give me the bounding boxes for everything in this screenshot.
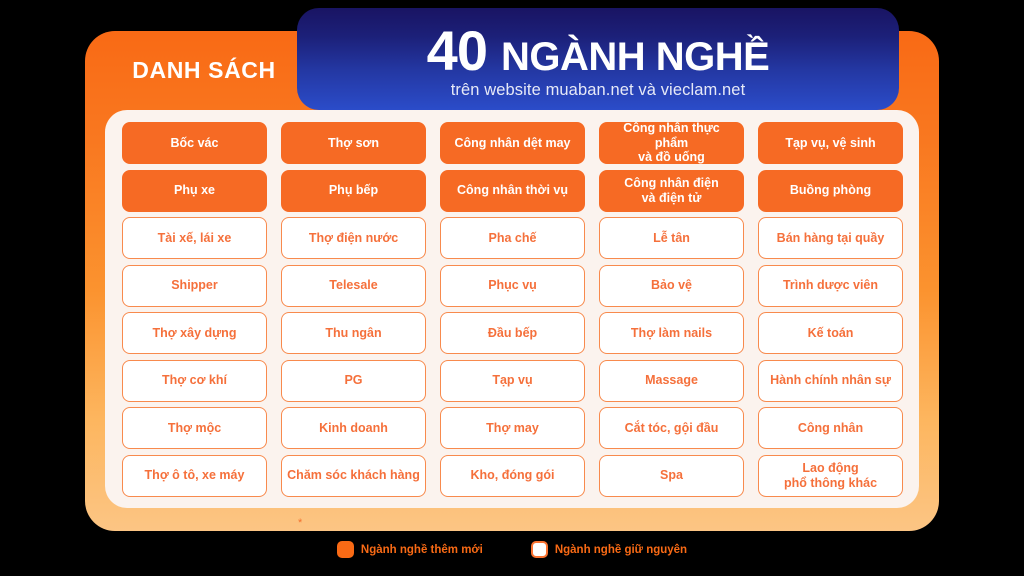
job-card-label: Bán hàng tại quầy: [777, 231, 885, 245]
job-card-line: Pha chế: [489, 231, 537, 245]
job-card-label: Công nhân: [798, 421, 863, 435]
job-card-line: Thợ may: [486, 421, 539, 435]
job-card-label: Thợ điện nước: [309, 231, 398, 245]
page-title: DANH SÁCH: [104, 57, 304, 84]
job-card[interactable]: Công nhân: [758, 407, 903, 449]
legend-swatch-icon: [531, 541, 548, 558]
job-card-line: Chăm sóc khách hàng: [287, 468, 420, 482]
job-card-label: Công nhân thời vụ: [457, 183, 568, 197]
job-card[interactable]: Công nhân điệnvà điện tử: [599, 170, 744, 212]
job-card[interactable]: Phục vụ: [440, 265, 585, 307]
job-card-label: Phụ bếp: [329, 183, 378, 197]
job-card-label: Shipper: [171, 278, 218, 292]
job-card-line: Tạp vụ: [492, 373, 532, 387]
job-card[interactable]: Thợ sơn: [281, 122, 426, 164]
job-card-line: Bốc vác: [171, 136, 219, 150]
job-card[interactable]: Kho, đóng gói: [440, 455, 585, 497]
job-card[interactable]: Công nhân thực phẩmvà đồ uống: [599, 122, 744, 164]
job-card-line: Thợ cơ khí: [162, 373, 227, 387]
job-card-label: Cắt tóc, gội đầu: [625, 421, 719, 435]
job-card-line: Kinh doanh: [319, 421, 388, 435]
job-card[interactable]: Spa: [599, 455, 744, 497]
job-card[interactable]: Thợ cơ khí: [122, 360, 267, 402]
job-card-line: Phục vụ: [488, 278, 537, 292]
header-banner: 40 NGÀNH NGHỀ trên website muaban.net và…: [297, 8, 899, 110]
job-card-line: PG: [344, 373, 362, 387]
job-card[interactable]: Pha chế: [440, 217, 585, 259]
job-card-label: Lễ tân: [653, 231, 690, 245]
job-card-line: Cắt tóc, gội đầu: [625, 421, 719, 435]
job-card-line: Phụ bếp: [329, 183, 378, 197]
job-card[interactable]: Kế toán: [758, 312, 903, 354]
job-card-line: Thợ mộc: [168, 421, 221, 435]
job-card-line: Công nhân dệt may: [455, 136, 571, 150]
job-card-line: Bảo vệ: [651, 278, 692, 292]
job-card[interactable]: Buồng phòng: [758, 170, 903, 212]
job-card-label: Công nhân điệnvà điện tử: [624, 176, 718, 205]
job-card-label: Buồng phòng: [790, 183, 871, 197]
legend-label: Ngành nghề giữ nguyên: [555, 544, 687, 556]
job-card-label: Thợ sơn: [328, 136, 379, 150]
job-card-label: Tạp vụ, vệ sinh: [785, 136, 875, 150]
job-card[interactable]: Trình dược viên: [758, 265, 903, 307]
job-card-label: Thu ngân: [325, 326, 381, 340]
job-card-label: Tạp vụ: [492, 373, 532, 387]
job-card[interactable]: Thợ may: [440, 407, 585, 449]
job-card[interactable]: Telesale: [281, 265, 426, 307]
job-card-line: Tài xế, lái xe: [158, 231, 232, 245]
job-card-line: phổ thông khác: [784, 476, 877, 490]
header-banner-headline: 40 NGÀNH NGHỀ: [427, 24, 770, 77]
job-card-line: Spa: [660, 468, 683, 482]
job-card-line: Công nhân thực phẩm: [605, 121, 738, 150]
job-card-label: PG: [344, 373, 362, 387]
job-card[interactable]: Thợ làm nails: [599, 312, 744, 354]
job-card-label: Thợ mộc: [168, 421, 221, 435]
job-card-label: Kho, đóng gói: [470, 468, 554, 482]
job-card[interactable]: Phụ xe: [122, 170, 267, 212]
job-card-line: Kho, đóng gói: [470, 468, 554, 482]
job-card[interactable]: Thợ mộc: [122, 407, 267, 449]
job-card-label: Bốc vác: [171, 136, 219, 150]
job-card[interactable]: Bán hàng tại quầy: [758, 217, 903, 259]
job-card-line: và điện tử: [624, 191, 718, 205]
legend-item-new: Ngành nghề thêm mới: [337, 541, 483, 558]
job-card-line: Lao động: [784, 461, 877, 475]
header-banner-content: 40 NGÀNH NGHỀ trên website muaban.net và…: [297, 8, 899, 110]
job-card-line: Thợ xây dựng: [153, 326, 237, 340]
footnote-asterisk: *: [298, 518, 302, 529]
job-card-line: Trình dược viên: [783, 278, 878, 292]
job-card-label: Đầu bếp: [488, 326, 537, 340]
job-card[interactable]: Massage: [599, 360, 744, 402]
job-card[interactable]: Chăm sóc khách hàng: [281, 455, 426, 497]
job-card[interactable]: Cắt tóc, gội đầu: [599, 407, 744, 449]
job-card-label: Công nhân thực phẩmvà đồ uống: [605, 121, 738, 164]
job-card[interactable]: Công nhân dệt may: [440, 122, 585, 164]
job-card[interactable]: Thợ xây dựng: [122, 312, 267, 354]
job-card-label: Thợ làm nails: [631, 326, 712, 340]
job-card-line: Đầu bếp: [488, 326, 537, 340]
job-card-label: Kế toán: [808, 326, 854, 340]
job-card-label: Phục vụ: [488, 278, 537, 292]
job-card-line: Công nhân: [798, 421, 863, 435]
job-card-label: Lao độngphổ thông khác: [784, 461, 877, 490]
header-banner-subtitle: trên website muaban.net và vieclam.net: [451, 81, 746, 100]
job-card-line: Thợ làm nails: [631, 326, 712, 340]
job-card-label: Thợ may: [486, 421, 539, 435]
header-banner-title: NGÀNH NGHỀ: [501, 37, 769, 77]
job-card-label: Massage: [645, 373, 698, 387]
job-card-label: Hành chính nhân sự: [770, 373, 891, 387]
job-card-label: Tài xế, lái xe: [158, 231, 232, 245]
job-card-line: Kế toán: [808, 326, 854, 340]
job-card-line: Telesale: [329, 278, 377, 292]
job-card-label: Pha chế: [489, 231, 537, 245]
job-card-line: Thợ ô tô, xe máy: [145, 468, 245, 482]
infographic-root: DANH SÁCH 40 NGÀNH NGHỀ trên website mua…: [0, 0, 1024, 576]
job-card-line: Thu ngân: [325, 326, 381, 340]
job-card-label: Công nhân dệt may: [455, 136, 571, 150]
job-card-label: Kinh doanh: [319, 421, 388, 435]
job-card-label: Thợ ô tô, xe máy: [145, 468, 245, 482]
job-card[interactable]: Công nhân thời vụ: [440, 170, 585, 212]
job-card-line: Hành chính nhân sự: [770, 373, 891, 387]
job-card[interactable]: Tạp vụ, vệ sinh: [758, 122, 903, 164]
job-card[interactable]: Tạp vụ: [440, 360, 585, 402]
job-card-line: Phụ xe: [174, 183, 215, 197]
job-card-line: Lễ tân: [653, 231, 690, 245]
job-card-label: Phụ xe: [174, 183, 215, 197]
job-count: 40: [427, 24, 487, 77]
job-card[interactable]: Thợ điện nước: [281, 217, 426, 259]
job-card[interactable]: Hành chính nhân sự: [758, 360, 903, 402]
job-card[interactable]: Shipper: [122, 265, 267, 307]
job-card-line: Massage: [645, 373, 698, 387]
job-card-line: Bán hàng tại quầy: [777, 231, 885, 245]
job-card[interactable]: Kinh doanh: [281, 407, 426, 449]
job-grid: Bốc vácThợ sơnCông nhân dệt mayCông nhân…: [122, 122, 902, 497]
job-card[interactable]: Bảo vệ: [599, 265, 744, 307]
job-card-label: Chăm sóc khách hàng: [287, 468, 420, 482]
legend-item-kept: Ngành nghề giữ nguyên: [531, 541, 687, 558]
job-card-line: Tạp vụ, vệ sinh: [785, 136, 875, 150]
job-card-line: Thợ sơn: [328, 136, 379, 150]
legend-label: Ngành nghề thêm mới: [361, 544, 483, 556]
job-card[interactable]: PG: [281, 360, 426, 402]
job-card[interactable]: Lao độngphổ thông khác: [758, 455, 903, 497]
job-card-label: Telesale: [329, 278, 377, 292]
job-card-label: Thợ xây dựng: [153, 326, 237, 340]
legend: Ngành nghề thêm mớiNgành nghề giữ nguyên: [0, 541, 1024, 558]
legend-swatch-icon: [337, 541, 354, 558]
job-card-line: Công nhân thời vụ: [457, 183, 568, 197]
job-card[interactable]: Thợ ô tô, xe máy: [122, 455, 267, 497]
job-card[interactable]: Tài xế, lái xe: [122, 217, 267, 259]
job-card-label: Bảo vệ: [651, 278, 692, 292]
job-card-line: và đồ uống: [605, 150, 738, 164]
job-card-line: Buồng phòng: [790, 183, 871, 197]
job-card-label: Trình dược viên: [783, 278, 878, 292]
job-card-line: Shipper: [171, 278, 218, 292]
job-card-line: Thợ điện nước: [309, 231, 398, 245]
job-card-label: Thợ cơ khí: [162, 373, 227, 387]
job-card[interactable]: Bốc vác: [122, 122, 267, 164]
job-card[interactable]: Phụ bếp: [281, 170, 426, 212]
job-card[interactable]: Thu ngân: [281, 312, 426, 354]
job-card-line: Công nhân điện: [624, 176, 718, 190]
job-card-label: Spa: [660, 468, 683, 482]
job-card[interactable]: Đầu bếp: [440, 312, 585, 354]
job-card[interactable]: Lễ tân: [599, 217, 744, 259]
